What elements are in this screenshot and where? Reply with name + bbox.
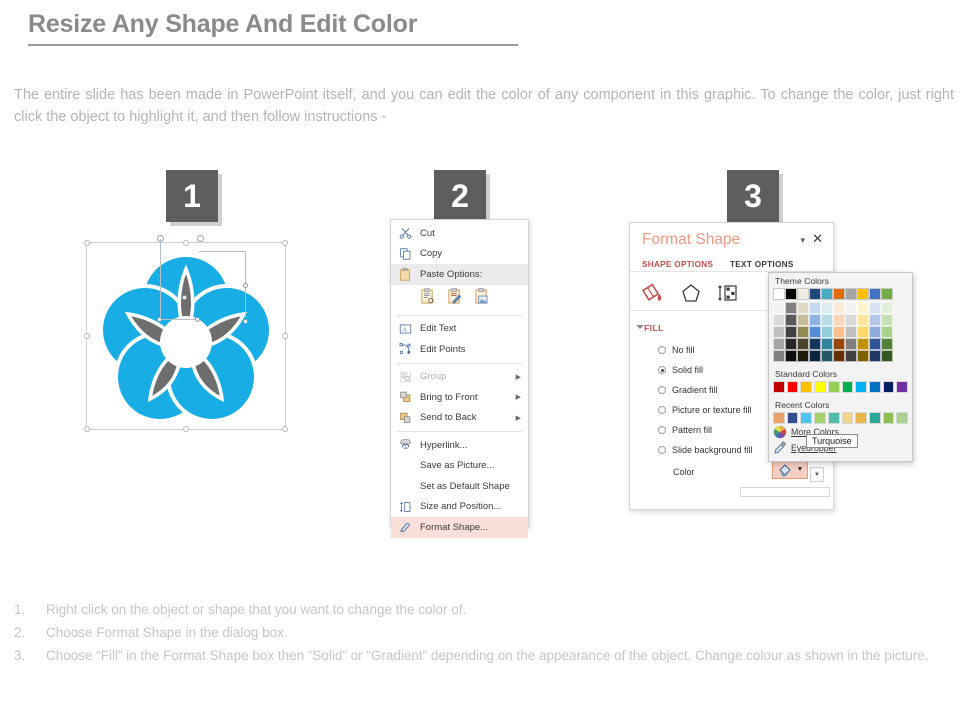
color-swatch[interactable] [809, 314, 821, 326]
context-menu-label: Group [420, 371, 446, 382]
color-swatch[interactable] [869, 412, 881, 424]
color-swatch[interactable] [881, 302, 893, 314]
theme-color-column[interactable] [845, 288, 857, 362]
theme-color-column[interactable] [809, 288, 821, 362]
resize-handle-sw[interactable] [84, 426, 90, 432]
color-swatch[interactable] [869, 302, 881, 314]
color-swatch[interactable] [842, 381, 854, 393]
adjust-guide-right-top [199, 251, 246, 252]
bring-to-front-icon [398, 390, 413, 405]
chevron-right-icon: ▶ [516, 414, 521, 422]
context-menu-label: Size and Position... [420, 501, 501, 512]
title-underline [28, 44, 518, 46]
fill-option-label: Slide background fill [672, 445, 753, 455]
adjust-point-inner[interactable] [182, 295, 187, 300]
resize-handle-se[interactable] [282, 426, 288, 432]
fill-option-no-fill[interactable]: No fill [658, 345, 695, 355]
color-swatch[interactable] [773, 381, 785, 393]
list-item: 3. Choose “Fill” in the Format Shape box… [14, 644, 948, 667]
color-swatch[interactable] [814, 381, 826, 393]
context-menu-separator [397, 363, 522, 364]
color-swatch[interactable] [869, 314, 881, 326]
color-swatch[interactable] [785, 288, 797, 300]
color-swatch[interactable] [821, 326, 833, 338]
fill-option-label: Pattern fill [672, 425, 712, 435]
fill-option-slide-background-fill[interactable]: Slide background fill [658, 445, 753, 455]
edit-points-icon [398, 342, 413, 357]
size-position-icon [398, 499, 413, 514]
color-swatch[interactable] [857, 350, 869, 362]
list-item: 1. Right click on the object or shape th… [14, 598, 948, 621]
fill-option-pattern-fill[interactable]: Pattern fill [658, 425, 712, 435]
fill-option-solid-fill[interactable]: Solid fill [658, 365, 703, 375]
color-swatch[interactable] [857, 314, 869, 326]
step-badge-1: 1 [166, 170, 218, 222]
fill-option-label: Picture or texture fill [672, 405, 752, 415]
context-menu-item-send-to-back[interactable]: Send to Back ▶ [391, 408, 528, 429]
color-swatch[interactable] [845, 350, 857, 362]
theme-colors-grid[interactable] [769, 288, 912, 362]
paste-use-destination-theme-icon[interactable] [447, 288, 462, 308]
step-badge-3: 3 [727, 170, 779, 222]
svg-text:A: A [402, 326, 407, 333]
color-swatch[interactable] [896, 412, 908, 424]
color-swatch[interactable] [785, 338, 797, 350]
color-swatch[interactable] [833, 338, 845, 350]
color-swatch[interactable] [787, 381, 799, 393]
color-swatch[interactable] [842, 412, 854, 424]
none-icon [398, 458, 413, 473]
copy-icon [398, 246, 413, 261]
resize-handle-s[interactable] [183, 426, 189, 432]
color-swatch[interactable] [857, 326, 869, 338]
color-swatch[interactable] [896, 381, 908, 393]
adjust-point-mid[interactable] [195, 317, 200, 322]
context-menu-item-set-as-default-shape[interactable]: Set as Default Shape [391, 476, 528, 497]
group-icon [398, 369, 413, 384]
context-menu-separator [397, 431, 522, 432]
color-swatch[interactable] [800, 381, 812, 393]
context-menu-item-size-and-position[interactable]: Size and Position... [391, 497, 528, 518]
context-menu-separator [397, 315, 522, 316]
adjust-point-petal[interactable] [243, 319, 248, 324]
adjust-handle-top[interactable] [197, 235, 204, 242]
color-swatch[interactable] [773, 302, 785, 314]
context-menu-label: Hyperlink... [420, 440, 468, 451]
fill-bucket-icon [777, 462, 795, 477]
list-item-text: Choose “Fill” in the Format Shape box th… [46, 644, 948, 667]
effects-icon[interactable] [678, 281, 704, 305]
resize-handle-n[interactable] [183, 240, 189, 246]
fill-option-label: Solid fill [672, 365, 703, 375]
close-icon[interactable]: ✕ [812, 231, 823, 247]
theme-color-column[interactable] [821, 288, 833, 362]
color-swatch[interactable] [855, 412, 867, 424]
radio-icon[interactable] [658, 366, 666, 374]
color-swatch[interactable] [809, 338, 821, 350]
radio-icon[interactable] [658, 386, 666, 394]
paste-picture-icon[interactable] [474, 288, 489, 308]
step-badge-2: 2 [434, 170, 486, 222]
color-swatch[interactable] [809, 302, 821, 314]
color-tooltip: Turquoise [806, 434, 858, 448]
adjust-point-right[interactable] [243, 283, 248, 288]
context-menu-label: Bring to Front [420, 392, 478, 403]
radio-icon[interactable] [658, 346, 666, 354]
color-swatch[interactable] [857, 288, 869, 300]
theme-color-column[interactable] [773, 288, 785, 362]
send-to-back-icon [398, 410, 413, 425]
chevron-right-icon: ▶ [516, 393, 521, 401]
color-swatch[interactable] [845, 302, 857, 314]
standard-colors-header: Standard Colors [769, 366, 912, 381]
edit-text-icon: A [398, 321, 413, 336]
adjust-point-center[interactable] [157, 317, 162, 322]
context-menu-item-paste-options[interactable]: Paste Options: [391, 264, 528, 285]
fill-option-picture-or-texture-fill[interactable]: Picture or texture fill [658, 405, 752, 415]
fill-option-label: Gradient fill [672, 385, 718, 395]
color-swatch[interactable] [814, 412, 826, 424]
color-swatch[interactable] [881, 288, 893, 300]
color-swatch[interactable] [833, 350, 845, 362]
recent-colors-row[interactable] [769, 412, 912, 424]
paste-keep-source-formatting-icon[interactable] [420, 288, 435, 308]
context-menu-label: Edit Points [420, 344, 465, 355]
list-item: 2. Choose Format Shape in the dialog box… [14, 621, 948, 644]
color-swatch[interactable] [833, 326, 845, 338]
context-menu-item-group[interactable]: Group ▶ [391, 367, 528, 388]
recent-colors-header: Recent Colors [769, 397, 912, 412]
chevron-down-icon[interactable]: ▼ [797, 466, 804, 473]
fill-and-line-icon[interactable] [642, 281, 668, 305]
theme-color-column[interactable] [857, 288, 869, 362]
color-swatch[interactable] [809, 350, 821, 362]
transparency-slider[interactable] [740, 487, 830, 497]
context-menu-item-cut[interactable]: Cut [391, 223, 528, 244]
color-swatch[interactable] [828, 412, 840, 424]
color-swatch[interactable] [883, 381, 895, 393]
fill-section-header: FILL [644, 323, 664, 333]
shape-selection-frame[interactable] [86, 242, 286, 430]
context-menu-item-format-shape[interactable]: Format Shape... [391, 517, 528, 538]
fill-option-label: No fill [672, 345, 695, 355]
scissors-icon [398, 226, 413, 241]
color-swatch[interactable] [857, 338, 869, 350]
list-item-number: 1. [14, 598, 46, 621]
context-menu-label: Paste Options: [420, 269, 482, 280]
page-title: Resize Any Shape And Edit Color [28, 10, 417, 39]
color-swatch[interactable] [869, 288, 881, 300]
color-swatch[interactable] [785, 314, 797, 326]
standard-colors-row[interactable] [769, 381, 912, 393]
color-swatch[interactable] [833, 302, 845, 314]
color-swatch[interactable] [845, 326, 857, 338]
context-menu-label: Send to Back [420, 412, 477, 423]
resize-handle-ne[interactable] [282, 240, 288, 246]
color-swatch[interactable] [821, 302, 833, 314]
color-swatch[interactable] [809, 326, 821, 338]
radio-icon[interactable] [658, 446, 666, 454]
color-swatch[interactable] [881, 338, 893, 350]
context-menu-item-bring-to-front[interactable]: Bring to Front ▶ [391, 387, 528, 408]
color-swatch[interactable] [809, 288, 821, 300]
paste-icon [398, 267, 413, 282]
color-swatch[interactable] [821, 288, 833, 300]
color-swatch[interactable] [787, 412, 799, 424]
list-item-number: 3. [14, 644, 46, 667]
color-swatch[interactable] [821, 338, 833, 350]
color-swatch[interactable] [881, 350, 893, 362]
context-menu-item-hyperlink[interactable]: Hyperlink... [391, 435, 528, 456]
resize-handle-w[interactable] [84, 333, 90, 339]
color-picker-button[interactable]: ▼ [772, 460, 808, 479]
adjust-guide-vertical [160, 239, 161, 319]
theme-color-column[interactable] [797, 288, 809, 362]
theme-color-column[interactable] [881, 288, 893, 362]
color-swatch[interactable] [773, 350, 785, 362]
eyedropper-icon [773, 441, 787, 455]
color-swatch[interactable] [869, 381, 881, 393]
fill-option-gradient-fill[interactable]: Gradient fill [658, 385, 718, 395]
color-swatch[interactable] [773, 326, 785, 338]
collapse-triangle-icon[interactable] [636, 325, 644, 329]
color-swatch[interactable] [785, 350, 797, 362]
color-swatch[interactable] [797, 314, 809, 326]
color-swatch[interactable] [833, 314, 845, 326]
radio-icon[interactable] [658, 426, 666, 434]
transparency-spinner[interactable]: ▼ [810, 467, 824, 482]
resize-handle-nw[interactable] [84, 240, 90, 246]
context-menu-item-edit-points[interactable]: Edit Points [391, 339, 528, 360]
color-swatch[interactable] [845, 338, 857, 350]
color-swatch[interactable] [855, 381, 867, 393]
theme-color-column[interactable] [869, 288, 881, 362]
color-swatch[interactable] [797, 338, 809, 350]
color-swatch[interactable] [785, 302, 797, 314]
color-swatch[interactable] [773, 338, 785, 350]
color-swatch[interactable] [881, 326, 893, 338]
shape-context-menu[interactable]: Cut Copy Paste Options: A Edit Text [390, 219, 529, 527]
context-menu-label: Edit Text [420, 323, 456, 334]
color-swatch[interactable] [828, 381, 840, 393]
color-swatch[interactable] [800, 412, 812, 424]
color-field-label: Color [673, 467, 695, 477]
theme-color-column[interactable] [833, 288, 845, 362]
adjust-guide-horizontal [160, 319, 198, 320]
color-swatch[interactable] [869, 350, 881, 362]
flower-shape-graphic[interactable] [87, 243, 285, 429]
list-item-text: Right click on the object or shape that … [46, 598, 948, 621]
tab-text-options[interactable]: TEXT OPTIONS [730, 260, 794, 269]
none-icon [398, 479, 413, 494]
color-swatch[interactable] [773, 412, 785, 424]
intro-paragraph: The entire slide has been made in PowerP… [14, 84, 954, 128]
color-swatch[interactable] [869, 326, 881, 338]
context-menu-label: Format Shape... [420, 522, 488, 533]
instruction-list: 1. Right click on the object or shape th… [14, 598, 948, 667]
chevron-right-icon: ▶ [516, 373, 521, 381]
color-wheel-icon [773, 425, 787, 439]
color-swatch[interactable] [797, 350, 809, 362]
radio-icon[interactable] [658, 406, 666, 414]
color-swatch[interactable] [881, 314, 893, 326]
resize-handle-e[interactable] [282, 333, 288, 339]
color-swatch[interactable] [821, 314, 833, 326]
paste-options-row[interactable] [391, 285, 528, 312]
active-category-indicator [644, 303, 658, 310]
theme-color-column[interactable] [785, 288, 797, 362]
color-swatch[interactable] [883, 412, 895, 424]
context-menu-item-edit-text[interactable]: A Edit Text [391, 319, 528, 340]
size-and-layout-icon[interactable] [714, 281, 740, 305]
color-swatch[interactable] [821, 350, 833, 362]
color-swatch[interactable] [833, 288, 845, 300]
context-menu-item-copy[interactable]: Copy [391, 244, 528, 265]
context-menu-label: Copy [420, 248, 442, 259]
format-shape-title: Format Shape [642, 231, 740, 249]
context-menu-item-save-as-picture[interactable]: Save as Picture... [391, 456, 528, 477]
color-swatch[interactable] [785, 326, 797, 338]
format-shape-icon [398, 520, 413, 535]
context-menu-label: Cut [420, 228, 435, 239]
color-swatch[interactable] [797, 326, 809, 338]
list-item-number: 2. [14, 621, 46, 644]
list-item-text: Choose Format Shape in the dialog box. [46, 621, 948, 644]
context-menu-label: Save as Picture... [420, 460, 494, 471]
color-swatch[interactable] [869, 338, 881, 350]
tab-shape-options[interactable]: SHAPE OPTIONS [642, 260, 713, 269]
color-swatch[interactable] [773, 314, 785, 326]
hyperlink-icon [398, 438, 413, 453]
context-menu-label: Set as Default Shape [420, 481, 510, 492]
chevron-down-icon[interactable]: ▾ [800, 235, 805, 246]
color-swatch[interactable] [773, 288, 785, 300]
color-swatch[interactable] [845, 288, 857, 300]
theme-colors-header: Theme Colors [769, 273, 912, 288]
color-swatch[interactable] [857, 302, 869, 314]
color-swatch[interactable] [797, 302, 809, 314]
color-swatch[interactable] [797, 288, 809, 300]
color-swatch[interactable] [845, 314, 857, 326]
